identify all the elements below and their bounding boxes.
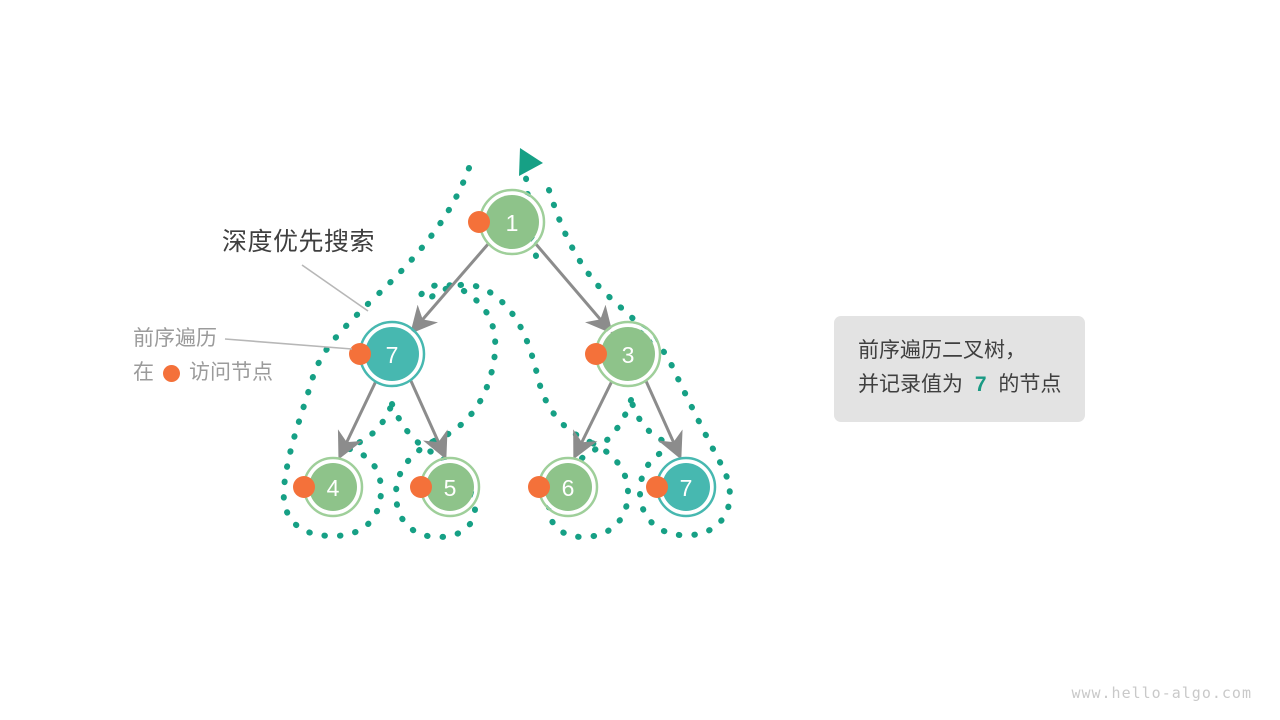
visit-dot-icon (293, 476, 315, 498)
tree-node-1[interactable]: 1 (468, 190, 544, 254)
node-value: 3 (622, 342, 635, 368)
leader-line-title (302, 265, 368, 311)
info-box-prefix: 并记录值为 (858, 373, 963, 396)
tree-node-4[interactable]: 4 (293, 458, 362, 516)
info-box-line-1: 前序遍历二叉树， (858, 334, 1061, 368)
node-value: 5 (444, 475, 457, 501)
node-value: 4 (327, 475, 340, 501)
legend-line-1: 前序遍历 (133, 322, 273, 356)
node-value: 1 (506, 210, 519, 236)
edge-7-5 (411, 381, 442, 450)
legend-line-2: 在 访问节点 (133, 356, 273, 390)
visit-dot-icon (410, 476, 432, 498)
legend-block: 前序遍历 在 访问节点 (133, 322, 273, 390)
info-box-suffix: 的节点 (998, 373, 1061, 396)
page-title: 深度优先搜索 (222, 222, 375, 258)
visit-dot-icon (528, 476, 550, 498)
info-box-line-2: 并记录值为 7 的节点 (858, 368, 1061, 402)
info-box-highlight-value: 7 (969, 373, 993, 396)
traversal-arrow-icon (519, 148, 543, 176)
node-value: 7 (680, 475, 693, 501)
legend-prefix: 在 (133, 356, 154, 390)
info-box: 前序遍历二叉树， 并记录值为 7 的节点 (834, 316, 1085, 422)
visit-dot-icon (646, 476, 668, 498)
legend-label-preorder: 前序遍历 (133, 322, 217, 356)
tree-node-3[interactable]: 3 (585, 322, 660, 386)
tree-node-7-left[interactable]: 7 (349, 322, 424, 386)
visit-dot-icon (349, 343, 371, 365)
tree-node-5[interactable]: 5 (410, 458, 479, 516)
tree-node-7-right[interactable]: 7 (646, 458, 715, 516)
visit-dot-icon (468, 211, 490, 233)
node-value: 6 (562, 475, 575, 501)
watermark: www.hello-algo.com (1071, 684, 1252, 702)
visit-dot-icon (585, 343, 607, 365)
node-value: 7 (386, 342, 399, 368)
visit-dot-icon (163, 365, 180, 382)
legend-suffix: 访问节点 (189, 356, 273, 390)
edge-1-3 (535, 243, 606, 326)
diagram-stage: 1 7 3 (0, 0, 1280, 720)
tree-node-6[interactable]: 6 (528, 458, 597, 516)
